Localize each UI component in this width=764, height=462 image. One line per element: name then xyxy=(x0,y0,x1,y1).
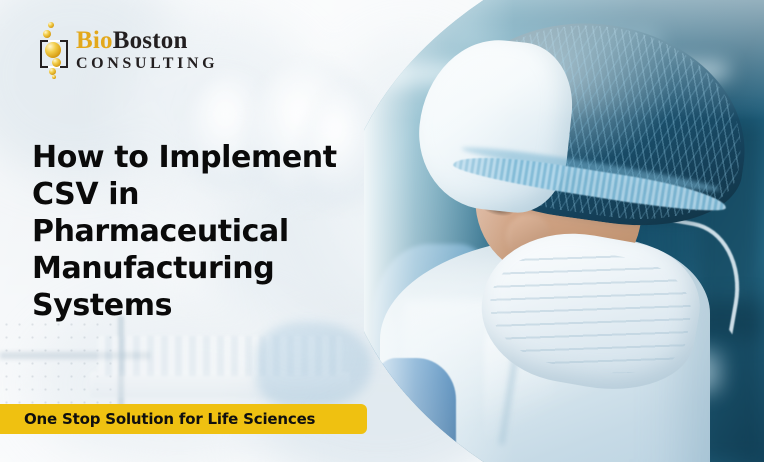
tagline-text: One Stop Solution for Life Sciences xyxy=(24,410,315,428)
hero-photo-image xyxy=(364,0,764,462)
logo-text-consulting: CONSULTING xyxy=(76,56,218,72)
logo-wordmark: BioBoston CONSULTING xyxy=(76,28,218,72)
hero-photo xyxy=(364,0,764,462)
logo[interactable]: BioBoston CONSULTING xyxy=(34,22,218,78)
technician-figure xyxy=(364,0,764,462)
page-title: How to Implement CSV in Pharmaceutical M… xyxy=(32,139,372,324)
gold-spheres-bracket-icon xyxy=(34,22,68,78)
logo-text-boston: Boston xyxy=(113,27,188,54)
tagline-banner: One Stop Solution for Life Sciences xyxy=(0,404,367,434)
logo-text-bio: Bio xyxy=(76,27,113,54)
logo-line-1: BioBoston xyxy=(76,28,218,53)
face-mask-strap xyxy=(652,218,751,335)
marketing-banner: BioBoston CONSULTING How to Implement CS… xyxy=(0,0,764,462)
background-gloved-hand xyxy=(256,322,372,408)
